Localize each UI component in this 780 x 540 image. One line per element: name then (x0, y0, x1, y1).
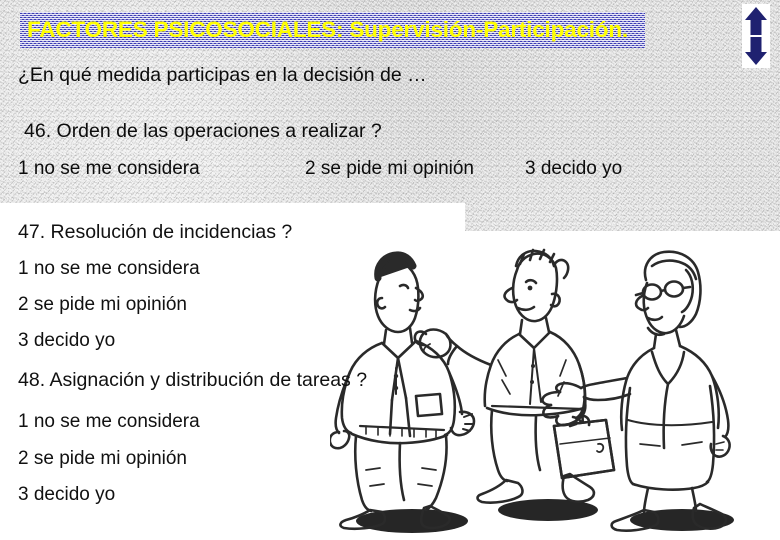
slide-canvas: FACTORES PSICOSOCIALES: Supervisión-Part… (0, 0, 780, 540)
question-46-option-1[interactable]: 1 no se me considera (18, 158, 200, 180)
question-48-title: 48. Asignación y distribución de tareas … (18, 369, 367, 392)
question-47-option-2[interactable]: 2 se pide mi opinión (18, 294, 187, 316)
question-48-option-1[interactable]: 1 no se me considera (18, 411, 200, 433)
question-48-option-3[interactable]: 3 decido yo (18, 484, 115, 506)
question-46-option-2[interactable]: 2 se pide mi opinión (305, 158, 474, 180)
subtitle: ¿En qué medida participas en la decisión… (18, 64, 427, 87)
question-48-option-2[interactable]: 2 se pide mi opinión (18, 448, 187, 470)
up-arrow-icon[interactable] (743, 6, 769, 36)
question-47-option-1[interactable]: 1 no se me considera (18, 258, 200, 280)
question-46-title: 46. Orden de las operaciones a realizar … (24, 120, 382, 143)
question-46-option-3[interactable]: 3 decido yo (525, 158, 622, 180)
down-arrow-icon[interactable] (743, 36, 769, 66)
question-47-option-3[interactable]: 3 decido yo (18, 330, 115, 352)
title-banner: FACTORES PSICOSOCIALES: Supervisión-Part… (20, 12, 645, 48)
page-title: FACTORES PSICOSOCIALES: Supervisión-Part… (20, 19, 628, 42)
question-47-title: 47. Resolución de incidencias ? (18, 221, 292, 244)
illustration-three-people (330, 248, 780, 538)
navigation-arrows[interactable] (742, 4, 770, 68)
